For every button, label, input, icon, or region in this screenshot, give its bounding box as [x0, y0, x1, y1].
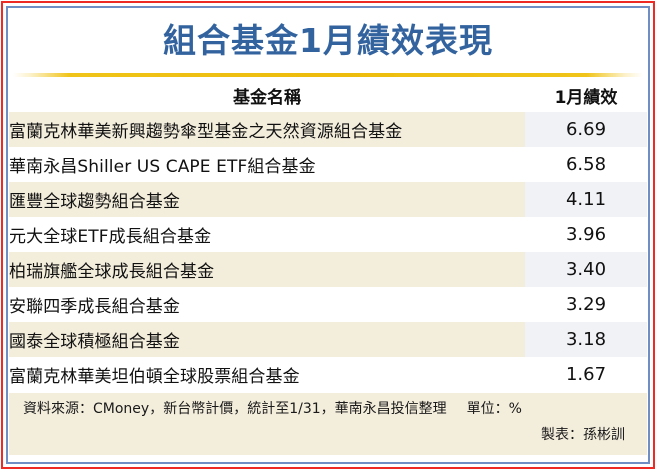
fund-performance-cell: 6.69 — [525, 112, 647, 147]
fund-name-cell: 元大全球ETF成長組合基金 — [9, 217, 525, 252]
fund-performance-cell: 6.58 — [525, 147, 647, 182]
table-header-row: 基金名稱 1月績效 — [9, 78, 647, 112]
footer-source-line: 資料來源：CMoney，新台幣計價，統計至1/31，華南永昌投信整理 單位：% — [23, 398, 631, 418]
document-content: 組合基金1月績效表現 基金名稱 1月績效 富蘭克林華美新興趨勢傘型基金之天然資源… — [9, 9, 647, 461]
table-row: 華南永昌Shiller US CAPE ETF組合基金 6.58 — [9, 147, 647, 182]
fund-performance-cell: 3.96 — [525, 217, 647, 252]
table-header: 基金名稱 1月績效 — [9, 78, 647, 112]
fund-name-cell: 華南永昌Shiller US CAPE ETF組合基金 — [9, 147, 525, 182]
table-row: 富蘭克林華美坦伯頓全球股票組合基金 1.67 — [9, 357, 647, 392]
page-frame: 組合基金1月績效表現 基金名稱 1月績效 富蘭克林華美新興趨勢傘型基金之天然資源… — [0, 0, 656, 470]
column-header-january-performance: 1月績效 — [525, 78, 647, 112]
table-row: 富蘭克林華美新興趨勢傘型基金之天然資源組合基金 6.69 — [9, 112, 647, 147]
table-row: 國泰全球積極組合基金 3.18 — [9, 322, 647, 357]
fund-performance-cell: 1.67 — [525, 357, 647, 392]
fund-performance-cell: 3.29 — [525, 287, 647, 322]
table-footer: 資料來源：CMoney，新台幣計價，統計至1/31，華南永昌投信整理 單位：% … — [9, 393, 647, 455]
fund-name-cell: 柏瑞旗艦全球成長組合基金 — [9, 252, 525, 287]
table-row: 匯豐全球趨勢組合基金 4.11 — [9, 182, 647, 217]
fund-name-cell: 安聯四季成長組合基金 — [9, 287, 525, 322]
gold-divider-rule — [13, 73, 643, 77]
fund-name-cell: 富蘭克林華美新興趨勢傘型基金之天然資源組合基金 — [9, 112, 525, 147]
table-row: 柏瑞旗艦全球成長組合基金 3.40 — [9, 252, 647, 287]
page-title: 組合基金1月績效表現 — [163, 24, 493, 57]
table-body: 富蘭克林華美新興趨勢傘型基金之天然資源組合基金 6.69 華南永昌Shiller… — [9, 112, 647, 392]
data-source-note: 資料來源：CMoney，新台幣計價，統計至1/31，華南永昌投信整理 — [23, 398, 447, 418]
table-row: 元大全球ETF成長組合基金 3.96 — [9, 217, 647, 252]
table-row: 安聯四季成長組合基金 3.29 — [9, 287, 647, 322]
unit-note: 單位：% — [467, 398, 522, 418]
fund-name-cell: 匯豐全球趨勢組合基金 — [9, 182, 525, 217]
fund-name-cell: 國泰全球積極組合基金 — [9, 322, 525, 357]
fund-performance-table: 基金名稱 1月績效 富蘭克林華美新興趨勢傘型基金之天然資源組合基金 6.69 華… — [9, 78, 647, 392]
title-block: 組合基金1月績效表現 — [9, 9, 647, 71]
fund-performance-cell: 3.40 — [525, 252, 647, 287]
fund-performance-cell: 3.18 — [525, 322, 647, 357]
column-header-fund-name: 基金名稱 — [9, 78, 525, 112]
fund-performance-cell: 4.11 — [525, 182, 647, 217]
chart-credit: 製表：孫彬訓 — [23, 424, 631, 444]
fund-name-cell: 富蘭克林華美坦伯頓全球股票組合基金 — [9, 357, 525, 392]
